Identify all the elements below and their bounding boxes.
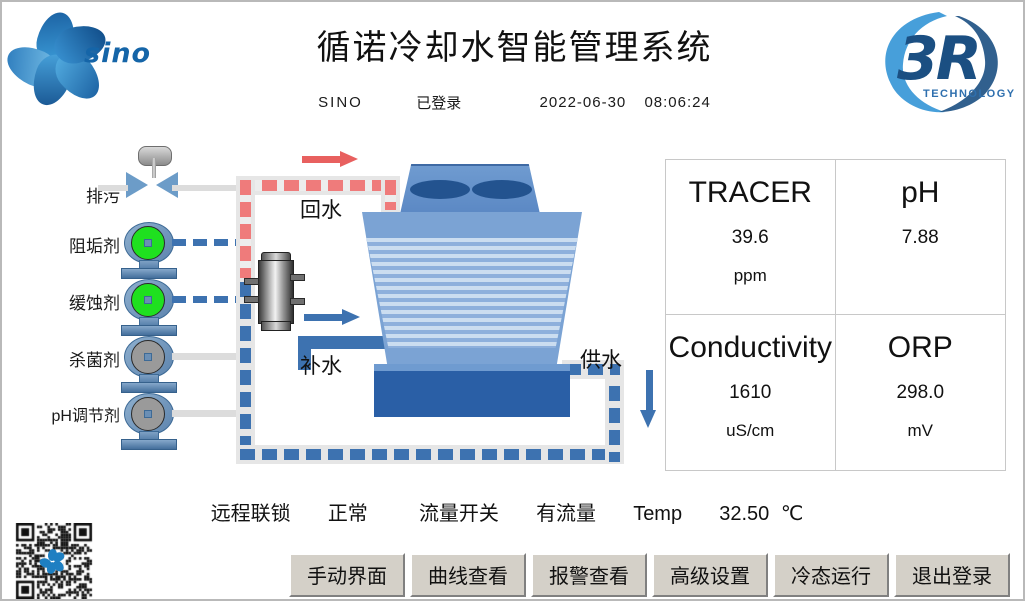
pump-antiscalant[interactable] <box>122 222 174 278</box>
arrow-shaft <box>646 370 653 412</box>
vessel-body <box>258 260 294 324</box>
analyzer-vessel-icon[interactable] <box>252 252 302 332</box>
pump-hub-icon <box>144 296 152 304</box>
current-date: 2022-06-30 <box>540 94 627 111</box>
measurement-name: Conductivity <box>666 331 835 365</box>
pump-base <box>121 382 177 393</box>
measurement-cell-conductivity: Conductivity 1610 uS/cm <box>666 315 836 470</box>
pump-ph-adjuster[interactable] <box>122 393 174 449</box>
interlock-label: 远程联锁 <box>211 497 291 526</box>
measurement-unit: uS/cm <box>666 421 835 441</box>
label-return-water: 回水 <box>300 194 342 224</box>
supply-pipe-left <box>240 282 251 462</box>
blowdown-pipe-left <box>98 185 128 191</box>
supply-flow-arrow-icon <box>644 370 654 430</box>
measurement-value: 1610 <box>666 382 835 404</box>
measurement-value: 39.6 <box>666 227 835 249</box>
process-flow-diagram: 回水 供水 补水 <box>192 142 652 482</box>
login-status: 已登录 <box>416 92 461 113</box>
chem-label-ph-adjuster: pH调节剂 <box>8 402 120 426</box>
vessel-nozzle <box>290 298 305 305</box>
label-makeup-water: 补水 <box>300 350 342 380</box>
tower-basin <box>374 364 570 417</box>
pump-base <box>121 439 177 450</box>
measurement-name: TRACER <box>666 176 835 210</box>
interlock-value: 正常 <box>328 497 368 526</box>
flow-switch-value: 有流量 <box>536 497 596 526</box>
measurement-value: 298.0 <box>836 382 1006 404</box>
chem-label-antiscalant: 阻垢剂 <box>12 232 120 257</box>
measurement-cell-ph: pH 7.88 <box>836 160 1006 315</box>
curve-view-button[interactable]: 曲线查看 <box>410 553 526 597</box>
temperature-unit: ℃ <box>781 501 803 526</box>
pump-corrosion-inhibitor[interactable] <box>122 279 174 335</box>
tower-fan-blade-icon <box>472 180 532 199</box>
chem-label-corrosion-inhibitor: 缓蚀剂 <box>12 289 120 314</box>
arrow-shaft <box>302 156 342 163</box>
temperature-label: Temp <box>633 503 682 526</box>
measurement-unit: mV <box>836 421 1006 441</box>
pump-hub-icon <box>144 410 152 418</box>
cold-start-button[interactable]: 冷态运行 <box>773 553 889 597</box>
pump-hub-icon <box>144 239 152 247</box>
valve-body-left <box>126 172 148 198</box>
measurement-value: 7.88 <box>836 227 1006 249</box>
pump-base <box>121 325 177 336</box>
pump-hub-icon <box>144 353 152 361</box>
measurement-unit: ppm <box>666 266 835 286</box>
session-bar: SINO 已登录 2022-06-30 08:06:24 <box>2 92 1025 113</box>
pump-base <box>121 268 177 279</box>
tower-fan-blade-icon <box>410 180 470 199</box>
chem-label-biocide: 杀菌剂 <box>12 346 120 371</box>
measurement-name: ORP <box>836 331 1006 365</box>
vessel-nozzle <box>244 278 259 285</box>
current-time: 08:06:24 <box>644 94 710 111</box>
pump-biocide[interactable] <box>122 336 174 392</box>
return-flow-arrow-icon <box>302 154 358 164</box>
page-title: 循诺冷却水智能管理系统 <box>2 20 1025 69</box>
return-pipe-left <box>240 180 251 278</box>
arrow-head <box>640 410 656 428</box>
vessel-nozzle <box>290 274 305 281</box>
tower-fill-stripes <box>362 238 582 348</box>
manual-interface-button[interactable]: 手动界面 <box>289 553 405 597</box>
advanced-settings-button[interactable]: 高级设置 <box>652 553 768 597</box>
logout-button[interactable]: 退出登录 <box>894 553 1010 597</box>
blowdown-valve-icon[interactable] <box>124 150 184 200</box>
hmi-screen: sino 3R TECHNOLOGY 循诺冷却水智能管理系统 SINO 已登录 … <box>0 0 1025 601</box>
vessel-nozzle <box>244 296 259 303</box>
status-strip: 远程联锁 正常 流量开关 有流量 Temp 32.50 ℃ <box>2 497 1012 526</box>
measurement-name: pH <box>836 176 1006 210</box>
qr-code[interactable] <box>6 523 102 599</box>
measurement-cell-tracer: TRACER 39.6 ppm <box>666 160 836 315</box>
button-bar: 手动界面 曲线查看 报警查看 高级设置 冷态运行 退出登录 <box>289 553 1010 597</box>
qr-center-logo-icon <box>42 550 64 572</box>
arrow-shaft <box>304 314 344 321</box>
temperature-value: 32.50 <box>719 503 769 526</box>
cooling-tower-icon <box>342 164 612 454</box>
user-name: SINO <box>318 94 363 111</box>
measurement-panel: TRACER 39.6 ppm pH 7.88 Conductivity 161… <box>665 159 1006 471</box>
vessel-foot <box>261 321 291 331</box>
flow-switch-label: 流量开关 <box>419 497 499 526</box>
measurement-cell-orp: ORP 298.0 mV <box>836 315 1006 470</box>
alarm-view-button[interactable]: 报警查看 <box>531 553 647 597</box>
